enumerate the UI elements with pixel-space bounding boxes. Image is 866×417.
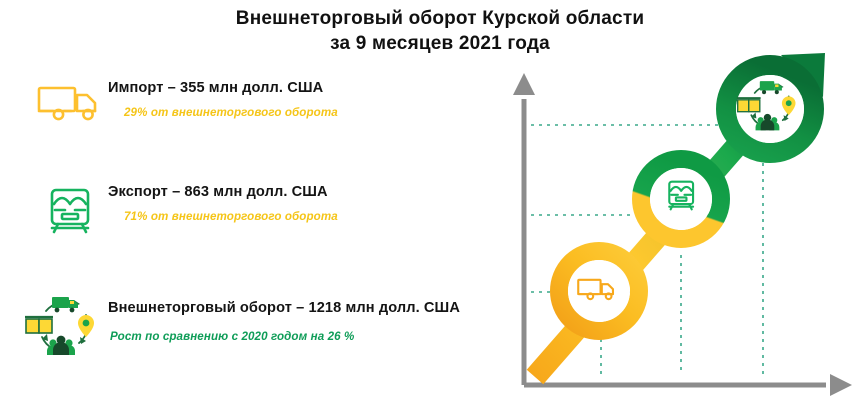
title-line-1: Внешнеторговый оборот Курской области (140, 6, 740, 31)
legend-item-export: Экспорт – 863 млн долл. США 71% от внешн… (0, 174, 470, 260)
legend-sub-import: 29% от внешнеторгового оборота (124, 106, 470, 119)
cycle-people (47, 336, 75, 355)
legend-text-export: Экспорт – 863 млн долл. США 71% от внешн… (108, 184, 470, 223)
chart-node-turnover (726, 65, 814, 153)
cycle-boxes (737, 98, 761, 112)
legend-text-import: Импорт – 355 млн долл. США 29% от внешне… (108, 80, 470, 119)
legend-label-export: Экспорт – 863 млн долл. США (108, 184, 470, 200)
legend-item-turnover: Внешнеторговый оборот – 1218 млн долл. С… (0, 282, 470, 368)
legend-label-import: Импорт – 355 млн долл. США (108, 80, 470, 96)
legend-label-turnover: Внешнеторговый оборот – 1218 млн долл. С… (108, 300, 470, 316)
growth-arrow-chart (480, 45, 866, 417)
truck-icon (34, 74, 106, 136)
cycle-truck (52, 297, 78, 312)
supply-chain-cycle-icon (22, 290, 106, 366)
cycle-pin (78, 315, 94, 337)
chart-node-export (641, 159, 721, 239)
chart-node-import (559, 251, 639, 331)
cycle-boxes (25, 317, 53, 333)
legend-text-turnover: Внешнеторговый оборот – 1218 млн долл. С… (108, 300, 470, 343)
legend-sub-export: 71% от внешнеторгового оборота (124, 210, 470, 223)
legend-item-import: Импорт – 355 млн долл. США 29% от внешне… (0, 70, 470, 156)
train-icon (34, 178, 106, 240)
legend-sub-turnover: Рост по сравнению с 2020 годом на 26 % (110, 330, 470, 343)
